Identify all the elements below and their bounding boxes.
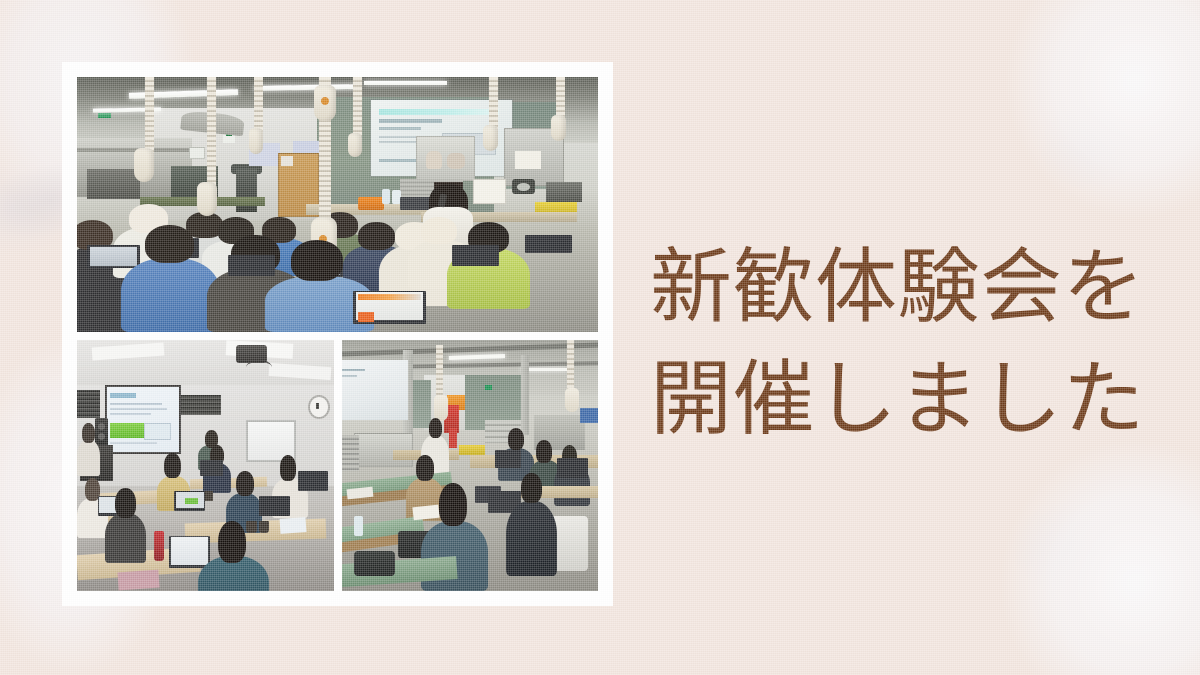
headline-line-1: 新歓体験会を: [650, 232, 1150, 344]
ceiling-projector: [236, 345, 267, 363]
collage-bottom-row: [77, 340, 598, 591]
makerspace-lecture-photo: [77, 77, 598, 332]
lecture-room-photo: [77, 340, 334, 591]
watercolor-wash-top-right: [990, 0, 1200, 240]
watercolor-wash-bottom-right: [985, 420, 1200, 675]
headline-line-2: 開催しました: [650, 344, 1150, 456]
collage-photo-bottom-left: [77, 340, 334, 591]
collage-photo-bottom-right: [342, 340, 599, 591]
workbench-room-photo: [342, 340, 599, 591]
headline-block: 新歓体験会を 開催しました: [650, 232, 1150, 456]
collage-photo-top: [77, 77, 598, 332]
photo-collage-frame: [62, 62, 613, 606]
wall-clock: [308, 395, 330, 419]
slide-canvas: 新歓体験会を 開催しました: [0, 0, 1200, 675]
